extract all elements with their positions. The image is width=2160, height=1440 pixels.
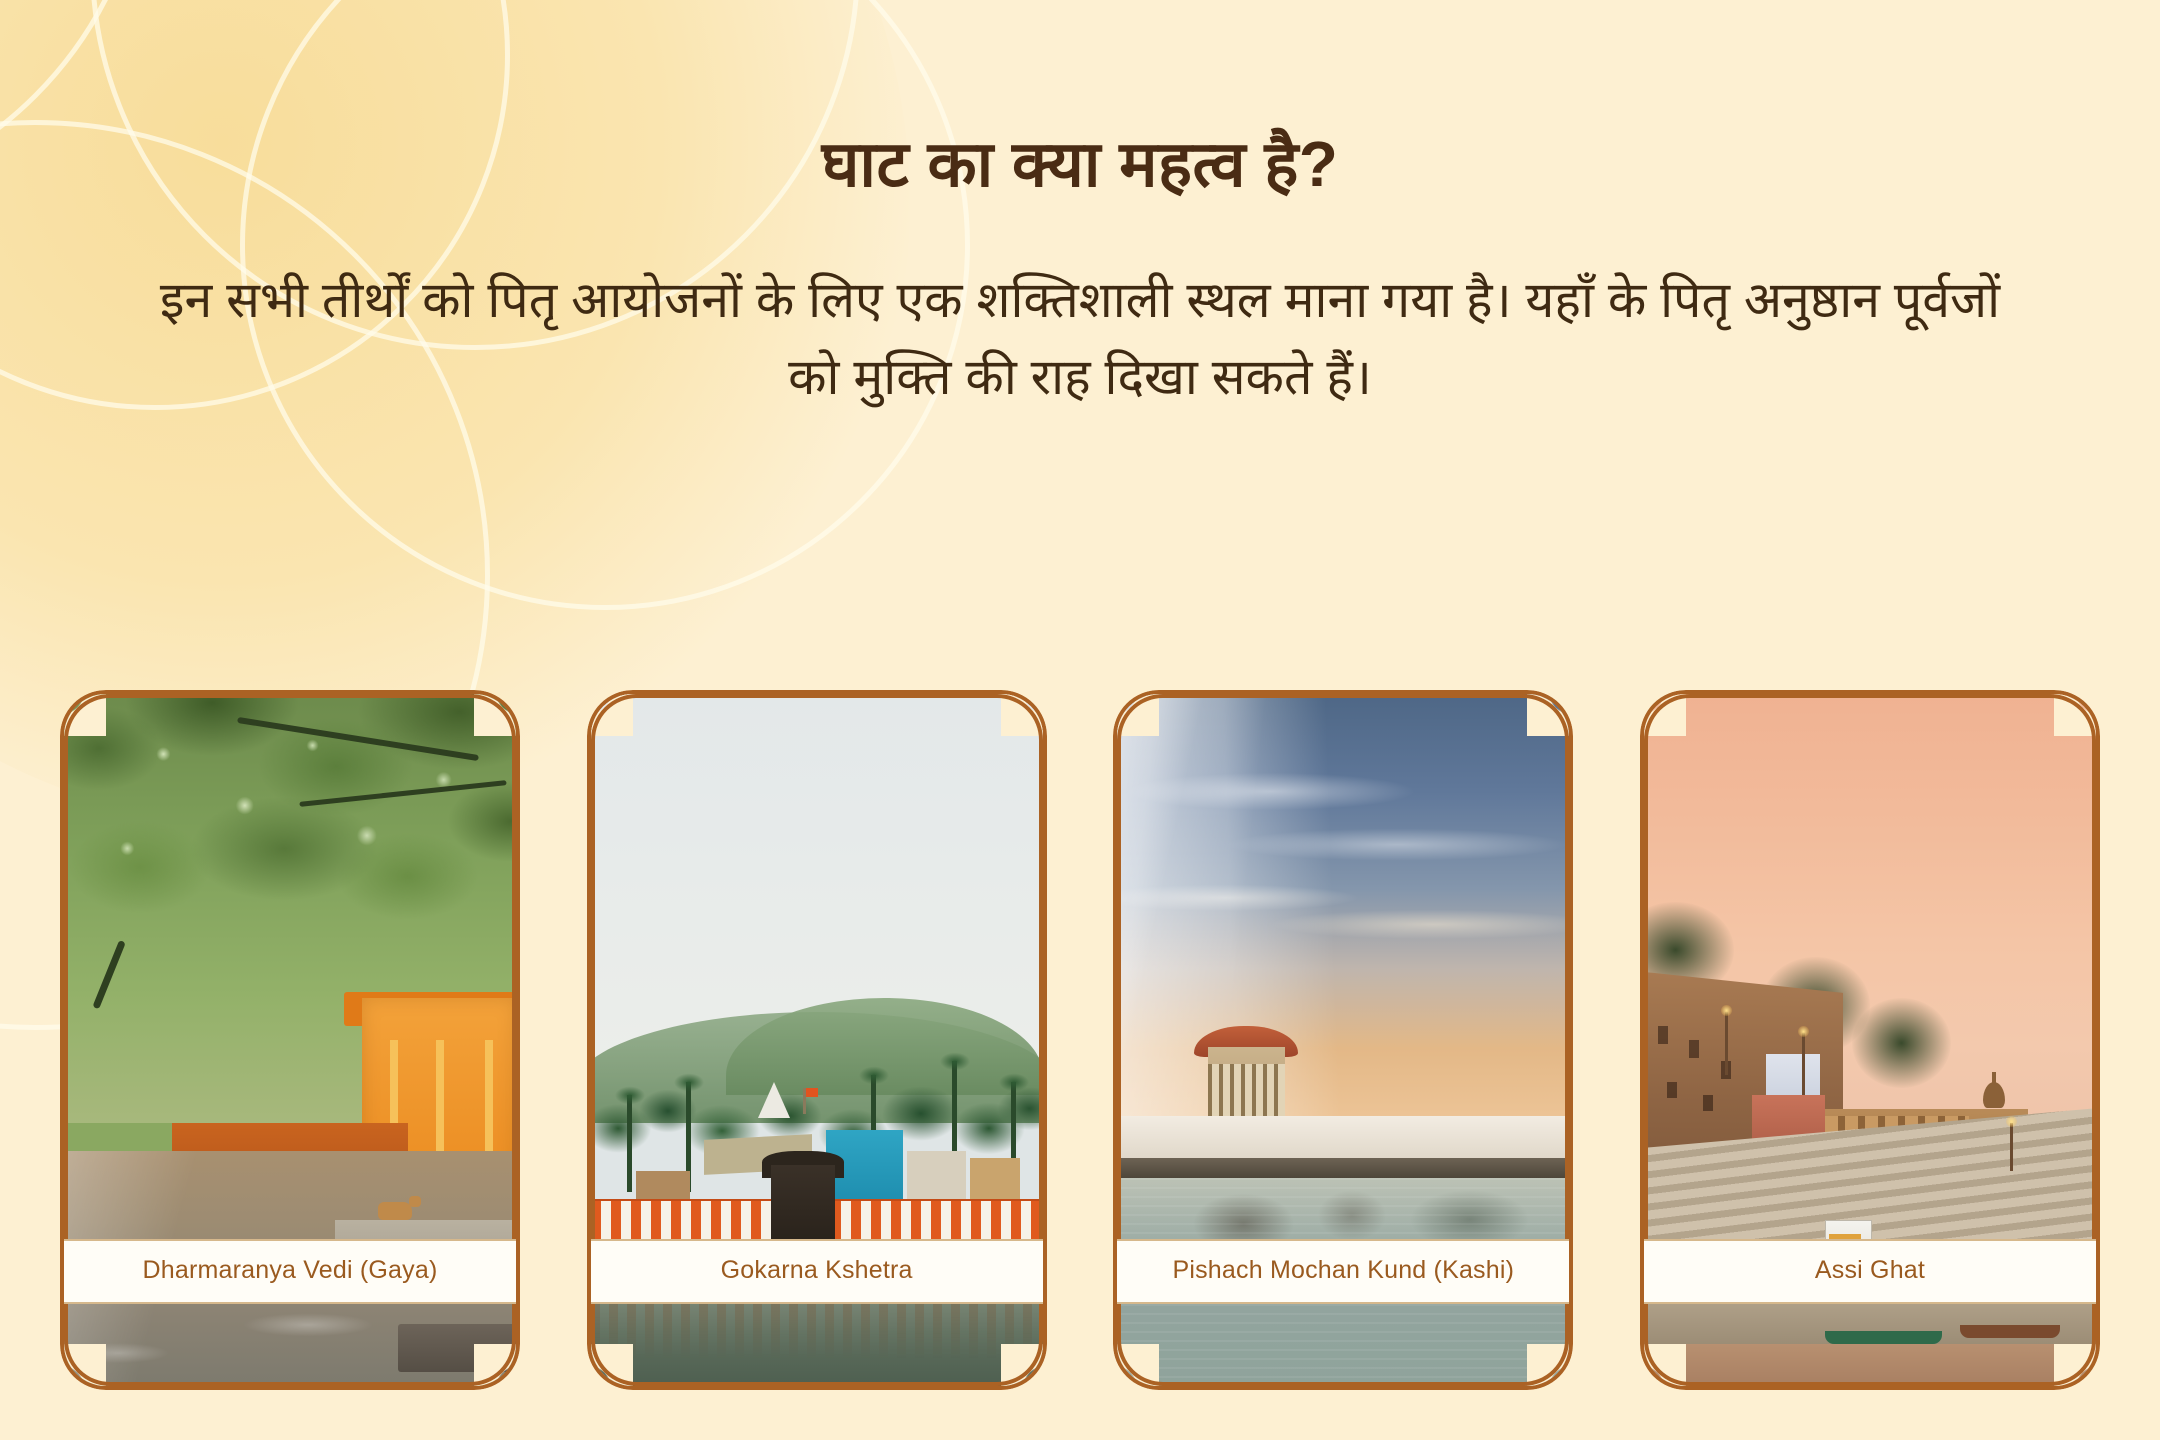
tirtha-card-dharmaranya-vedi[interactable]: Dharmaranya Vedi (Gaya) [60, 690, 520, 1390]
card-caption-dharmaranya-vedi: Dharmaranya Vedi (Gaya) [64, 1239, 516, 1304]
card-caption-pishach-mochan-kund: Pishach Mochan Kund (Kashi) [1117, 1239, 1569, 1304]
card-caption-gokarna-kshetra: Gokarna Kshetra [591, 1239, 1043, 1304]
card-caption-assi-ghat: Assi Ghat [1644, 1239, 2096, 1304]
tirtha-card-assi-ghat[interactable]: Assi Ghat [1640, 690, 2100, 1390]
tirtha-card-row: Dharmaranya Vedi (Gaya) [60, 690, 2100, 1390]
tirtha-card-pishach-mochan-kund[interactable]: Pishach Mochan Kund (Kashi) [1113, 690, 1573, 1390]
slide-canvas: घाट का क्या महत्व है? इन सभी तीर्थों को … [0, 0, 2160, 1440]
heading-block: घाट का क्या महत्व है? इन सभी तीर्थों को … [0, 0, 2160, 417]
page-title: घाट का क्या महत्व है? [0, 0, 2160, 202]
tirtha-card-gokarna-kshetra[interactable]: Gokarna Kshetra [587, 690, 1047, 1390]
page-subtitle: इन सभी तीर्थों को पितृ आयोजनों के लिए एक… [130, 202, 2030, 417]
